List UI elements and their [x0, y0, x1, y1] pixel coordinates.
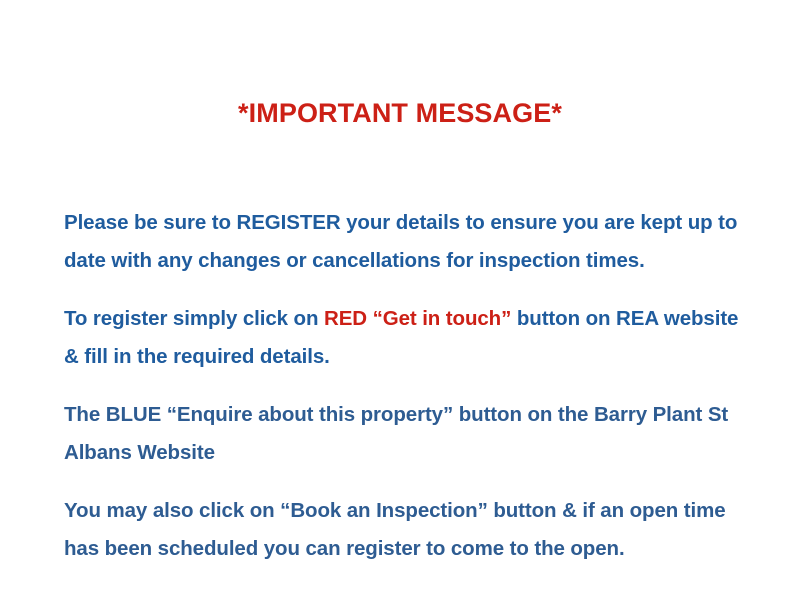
red-get-in-touch-emphasis: RED “Get in touch”	[324, 307, 511, 330]
slide-body: Please be sure to REGISTER your details …	[64, 204, 740, 568]
page-title: *IMPORTANT MESSAGE*	[0, 98, 800, 129]
paragraph-barry-plant-enquire: The BLUE “Enquire about this property” b…	[64, 396, 740, 472]
paragraph-rea-lead-text: To register simply click on	[64, 307, 324, 330]
slide-canvas: *IMPORTANT MESSAGE* Please be sure to RE…	[0, 0, 800, 600]
paragraph-rea-get-in-touch: To register simply click on RED “Get in …	[64, 300, 740, 376]
paragraph-register-details: Please be sure to REGISTER your details …	[64, 204, 740, 280]
paragraph-book-an-inspection: You may also click on “Book an Inspectio…	[64, 492, 740, 568]
